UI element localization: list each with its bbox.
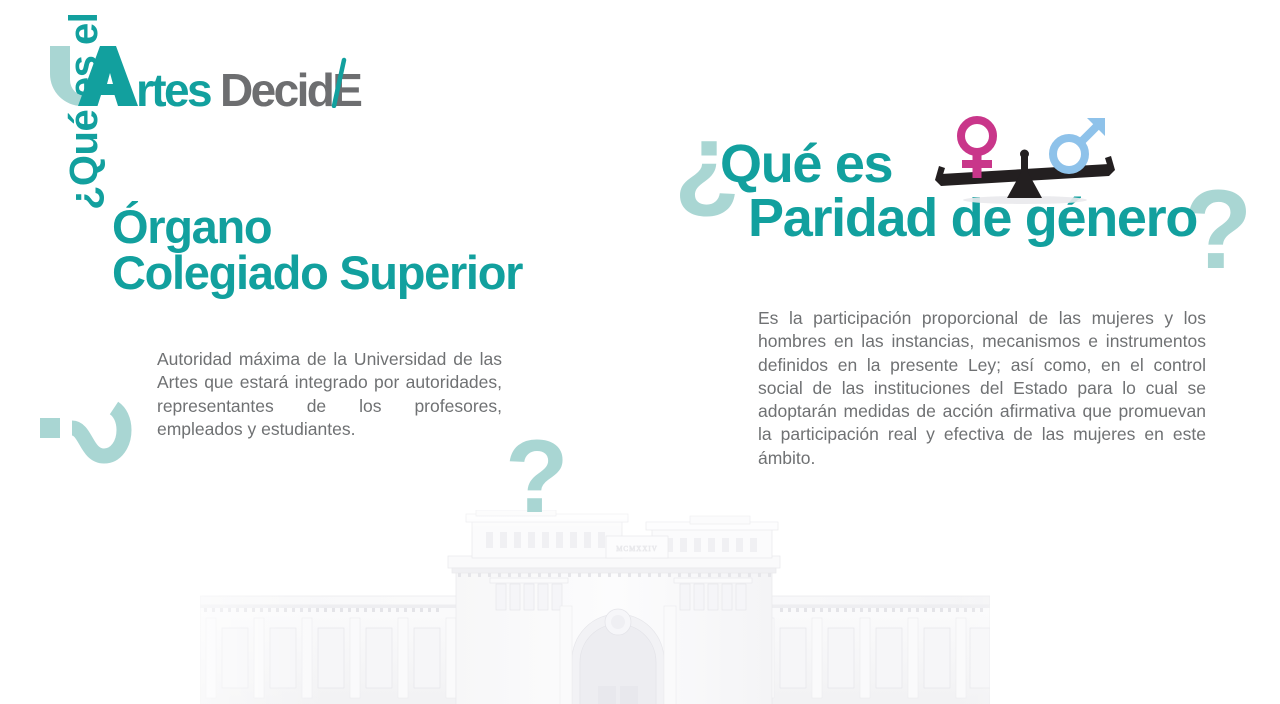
- left-eyebrow-text: ¿Qué es el: [62, 13, 106, 210]
- left-eyebrow-rotated: ¿Qué es el: [62, 13, 107, 210]
- right-body-text: Es la participación proporcional de las …: [758, 307, 1206, 470]
- brand-logo[interactable]: rtes DecidE: [48, 44, 368, 108]
- left-content-block: ? Órgano Colegiado Superior Autoridad má…: [0, 190, 580, 490]
- logo-text-rtes: rtes: [136, 64, 211, 108]
- brand-logo-mark: rtes DecidE: [48, 44, 368, 108]
- left-headline-line2: Colegiado Superior: [112, 246, 522, 299]
- right-headline-line1: Qué es: [720, 138, 892, 190]
- female-symbol-icon: [961, 120, 993, 178]
- left-question-mark: ?: [505, 436, 569, 519]
- building-illustration: MCMXXIV: [200, 510, 990, 704]
- left-headline: Órgano Colegiado Superior: [112, 204, 522, 295]
- male-symbol-icon: [1053, 118, 1105, 170]
- right-content-block: ¿ ? Qué es Paridad de género Es la parti…: [660, 110, 1280, 530]
- svg-text:MCMXXIV: MCMXXIV: [616, 545, 658, 553]
- scale-post-cap: [1020, 150, 1029, 159]
- gender-balance-scale-icon: [925, 114, 1125, 206]
- left-body-text: Autoridad máxima de la Universidad de la…: [157, 348, 502, 441]
- backdrop-fade-left: [0, 474, 330, 704]
- logo-a-shape: [78, 46, 138, 106]
